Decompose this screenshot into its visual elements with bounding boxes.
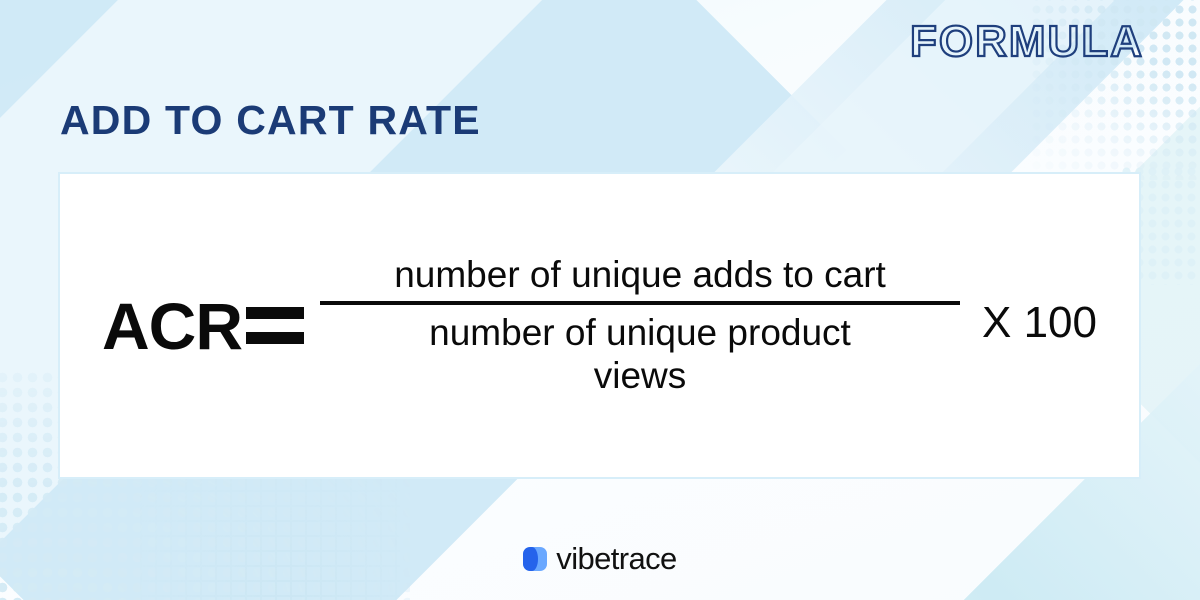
equals-bar-top — [246, 307, 304, 319]
brand-name: vibetrace — [556, 543, 676, 574]
formula-multiplier: X 100 — [982, 298, 1097, 348]
page-title: ADD TO CART RATE — [60, 98, 481, 143]
fraction: number of unique adds to cart number of … — [320, 253, 960, 398]
formula-panel: ACR number of unique adds to cart number… — [58, 172, 1141, 479]
vibetrace-mark-icon — [523, 547, 547, 571]
formula-variable-label: ACR — [102, 293, 242, 359]
equals-bar-bottom — [246, 332, 304, 344]
poster-canvas: FORMULA ADD TO CART RATE ACR number of u… — [0, 0, 1200, 600]
fraction-denominator: number of unique product views — [320, 305, 960, 398]
vibetrace-mark-left-shape — [523, 547, 538, 571]
formula-expression: ACR number of unique adds to cart number… — [60, 253, 1139, 398]
fraction-numerator: number of unique adds to cart — [388, 253, 892, 301]
halftone-specks-bottom-left — [140, 460, 400, 600]
brand-logo: vibetrace — [0, 543, 1200, 574]
equals-sign-icon — [246, 307, 304, 344]
formula-badge-label: FORMULA — [910, 20, 1144, 64]
